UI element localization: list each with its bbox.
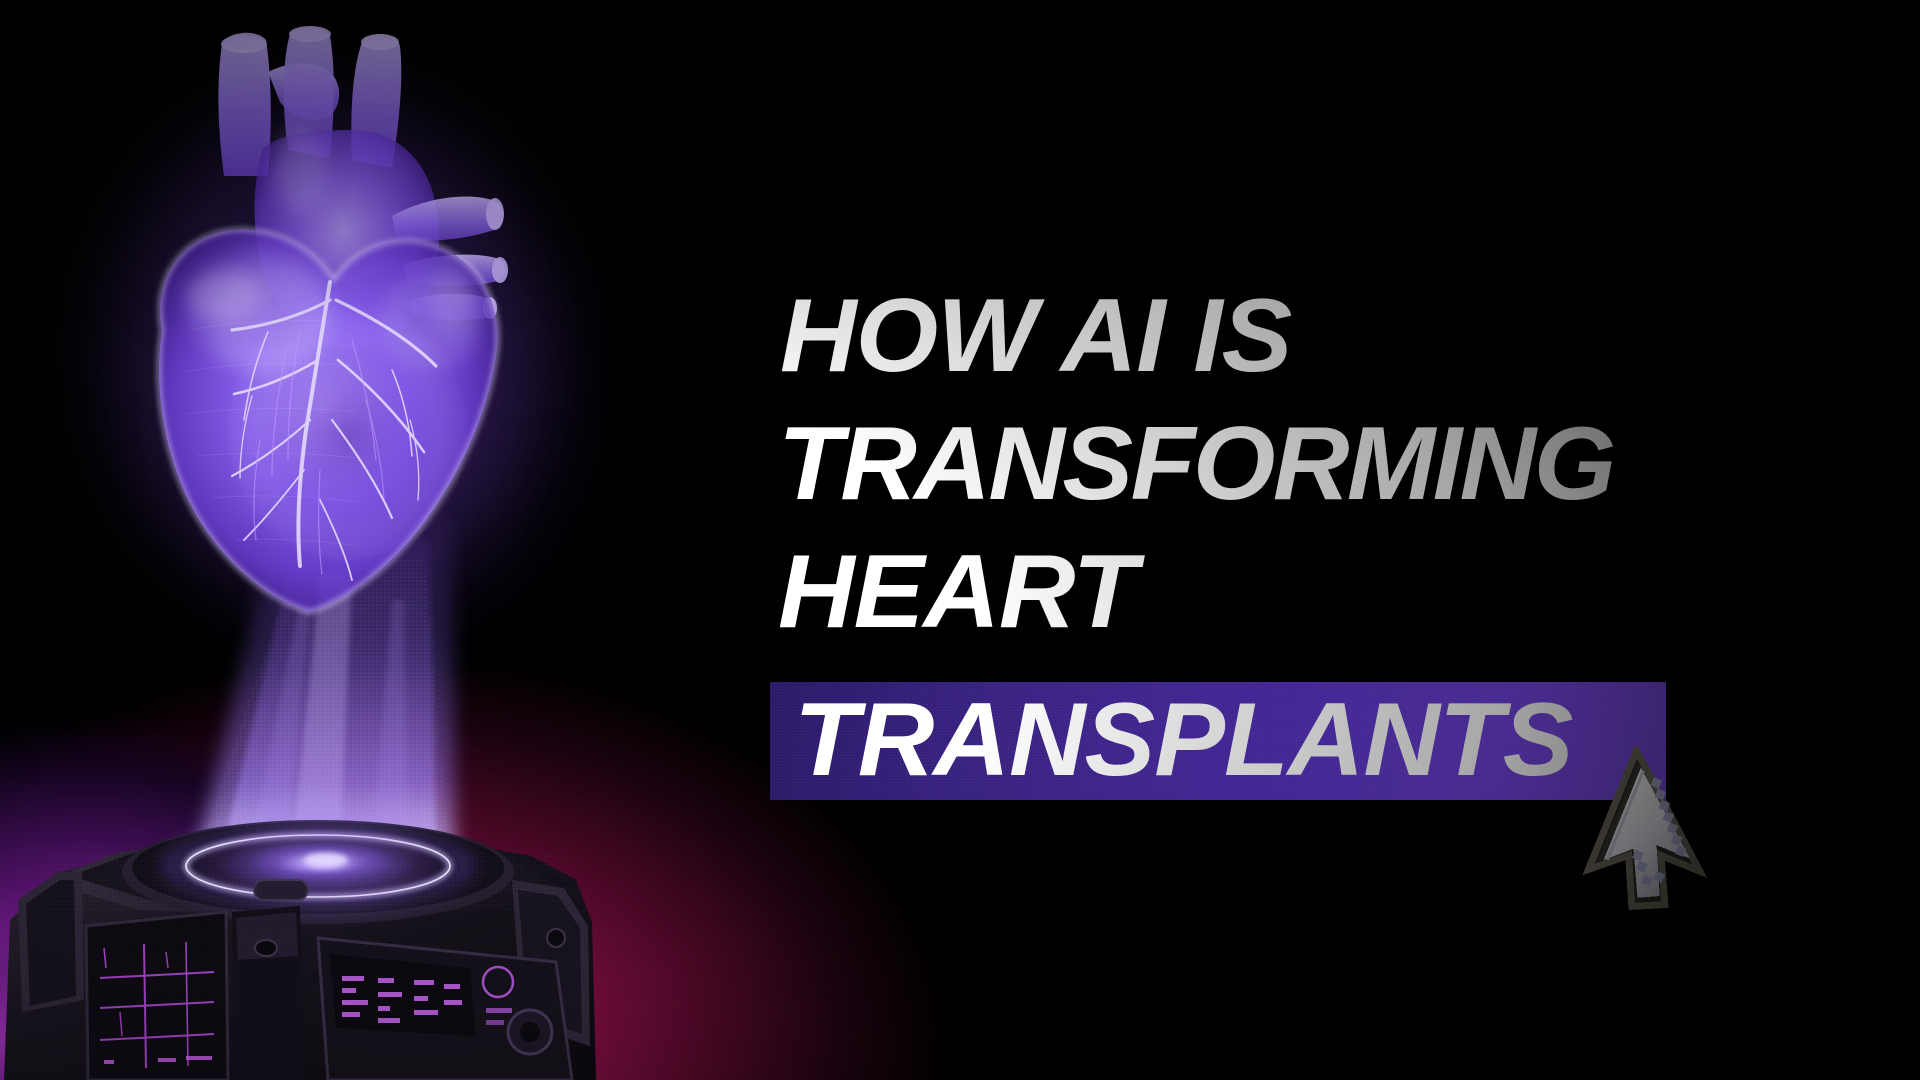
hologram-artwork <box>0 0 720 1080</box>
highlight-band-text: TRANSPLANTS <box>794 681 1572 799</box>
headline-line-2: TRANSFORMING <box>778 400 1818 528</box>
hologram-projector-device <box>4 820 596 1080</box>
headline-line-1: HOW AI IS <box>780 272 1818 400</box>
headline-line-3: HEART <box>778 528 1818 656</box>
poster-canvas: HOW AI IS TRANSFORMING HEART TRANSPLANTS <box>0 0 1920 1080</box>
headline-block: HOW AI IS TRANSFORMING HEART <box>778 272 1798 656</box>
headline-highlight-band: TRANSPLANTS <box>770 682 1666 800</box>
holographic-heart <box>115 26 545 612</box>
